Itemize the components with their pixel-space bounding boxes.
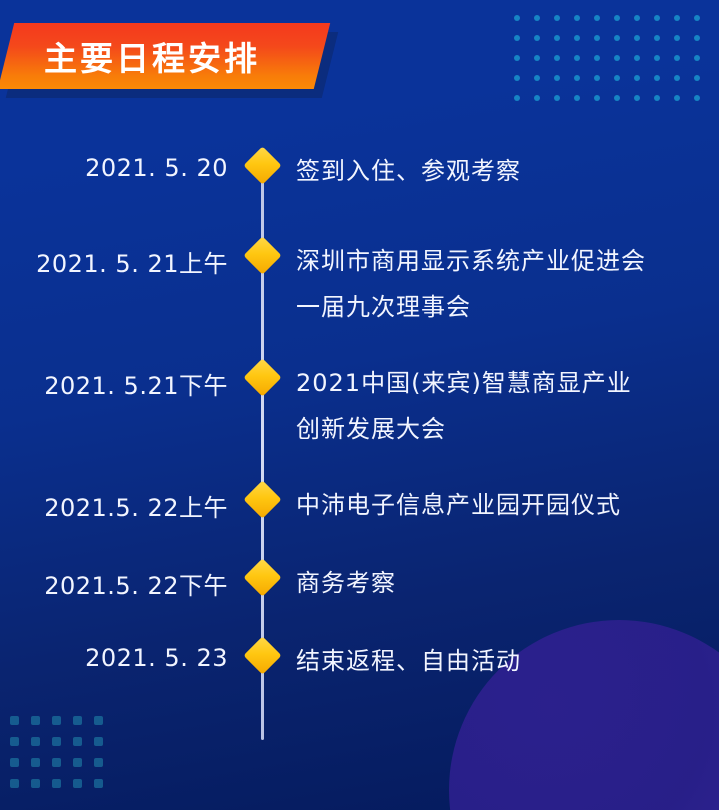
decorative-dot: [574, 75, 580, 81]
decorative-dot: [94, 716, 103, 725]
timeline-row[interactable]: 2021. 5.21下午2021中国(来宾)智慧商显产业创新发展大会: [0, 360, 719, 452]
timeline-row-date: 2021. 5.21下午: [0, 360, 228, 401]
timeline-row-event: 结束返程、自由活动: [296, 638, 719, 684]
timeline-row[interactable]: 2021.5. 22上午中沛电子信息产业园开园仪式: [0, 482, 719, 538]
timeline-row[interactable]: 2021.5. 22下午商务考察: [0, 560, 719, 616]
decorative-dot: [514, 15, 520, 21]
decorative-dot: [654, 35, 660, 41]
decorative-dot: [694, 55, 700, 61]
diamond-icon: [243, 558, 281, 596]
decorative-dot: [31, 716, 40, 725]
decorative-dot: [534, 55, 540, 61]
decorative-dot-grid-top-right: [507, 8, 707, 108]
decorative-dot: [574, 15, 580, 21]
decorative-dot: [73, 716, 82, 725]
decorative-dot: [554, 75, 560, 81]
decorative-dot: [514, 35, 520, 41]
decorative-dot: [534, 15, 540, 21]
timeline-marker-container: [228, 560, 296, 591]
timeline-row-date: 2021.5. 22下午: [0, 560, 228, 601]
decorative-dot: [574, 95, 580, 101]
decorative-dot: [574, 35, 580, 41]
decorative-dot: [614, 35, 620, 41]
decorative-dot: [554, 15, 560, 21]
timeline-row-event: 2021中国(来宾)智慧商显产业创新发展大会: [296, 360, 719, 452]
timeline-row-event-line1: 商务考察: [296, 569, 396, 597]
decorative-dot: [614, 75, 620, 81]
diamond-icon: [243, 358, 281, 396]
decorative-dot: [554, 35, 560, 41]
decorative-dot: [73, 779, 82, 788]
decorative-dot: [94, 737, 103, 746]
title-banner: 主要日程安排: [0, 23, 330, 97]
decorative-dot: [694, 75, 700, 81]
decorative-dot: [514, 95, 520, 101]
decorative-dot: [614, 55, 620, 61]
timeline-row[interactable]: 2021. 5. 20签到入住、参观考察: [0, 148, 719, 204]
decorative-dot: [10, 758, 19, 767]
decorative-dot: [10, 779, 19, 788]
timeline-row-date: 2021. 5. 21上午: [0, 238, 228, 279]
decorative-dot: [654, 55, 660, 61]
decorative-dot: [52, 716, 61, 725]
diamond-icon: [243, 480, 281, 518]
timeline-row-date: 2021.5. 22上午: [0, 482, 228, 523]
diamond-icon: [243, 636, 281, 674]
decorative-dot: [574, 55, 580, 61]
timeline-list: 2021. 5. 20签到入住、参观考察2021. 5. 21上午深圳市商用显示…: [0, 148, 719, 694]
decorative-dot: [73, 758, 82, 767]
timeline-row-event-line1: 结束返程、自由活动: [296, 647, 521, 675]
decorative-dot: [52, 758, 61, 767]
decorative-dot: [31, 779, 40, 788]
diamond-icon: [243, 146, 281, 184]
timeline-row-event: 中沛电子信息产业园开园仪式: [296, 482, 719, 528]
decorative-dot: [514, 75, 520, 81]
decorative-dot: [654, 15, 660, 21]
decorative-dot: [594, 35, 600, 41]
decorative-dot: [674, 75, 680, 81]
timeline-marker-container: [228, 638, 296, 669]
decorative-dot: [634, 35, 640, 41]
page-title: 主要日程安排: [0, 23, 330, 89]
decorative-dot: [614, 95, 620, 101]
decorative-dot: [674, 95, 680, 101]
decorative-dot: [31, 737, 40, 746]
decorative-dot: [94, 758, 103, 767]
timeline-marker-container: [228, 482, 296, 513]
decorative-dot: [594, 55, 600, 61]
timeline-row-event-line1: 签到入住、参观考察: [296, 157, 521, 185]
timeline-marker-container: [228, 148, 296, 179]
decorative-dot: [694, 95, 700, 101]
decorative-dot: [534, 95, 540, 101]
decorative-dot: [614, 15, 620, 21]
timeline-row-event-line2: 创新发展大会: [296, 406, 719, 452]
decorative-dot: [634, 95, 640, 101]
decorative-dot: [94, 779, 103, 788]
decorative-dot-grid-bottom-left: [4, 710, 109, 794]
timeline-row-event: 深圳市商用显示系统产业促进会一届九次理事会: [296, 238, 719, 330]
timeline-row-event-line2: 一届九次理事会: [296, 284, 719, 330]
decorative-dot: [674, 35, 680, 41]
decorative-dot: [554, 55, 560, 61]
decorative-dot: [31, 758, 40, 767]
diamond-icon: [243, 236, 281, 274]
timeline-row-event: 签到入住、参观考察: [296, 148, 719, 194]
timeline-row-date: 2021. 5. 20: [0, 148, 228, 182]
decorative-dot: [634, 15, 640, 21]
timeline-row-event: 商务考察: [296, 560, 719, 606]
decorative-dot: [554, 95, 560, 101]
decorative-dot: [674, 15, 680, 21]
timeline-row-event-line1: 中沛电子信息产业园开园仪式: [296, 491, 621, 519]
decorative-dot: [654, 75, 660, 81]
decorative-dot: [634, 55, 640, 61]
timeline-marker-container: [228, 360, 296, 391]
decorative-dot: [594, 15, 600, 21]
decorative-dot: [594, 95, 600, 101]
decorative-dot: [694, 35, 700, 41]
decorative-dot: [10, 716, 19, 725]
decorative-dot: [634, 75, 640, 81]
decorative-dot: [694, 15, 700, 21]
decorative-dot: [52, 779, 61, 788]
timeline-row[interactable]: 2021. 5. 23结束返程、自由活动: [0, 638, 719, 694]
decorative-dot: [594, 75, 600, 81]
decorative-dot: [534, 35, 540, 41]
timeline-row-event-line1: 深圳市商用显示系统产业促进会: [296, 247, 646, 275]
timeline-row-date: 2021. 5. 23: [0, 638, 228, 672]
decorative-dot: [654, 95, 660, 101]
decorative-dot: [73, 737, 82, 746]
decorative-dot: [52, 737, 61, 746]
timeline-row[interactable]: 2021. 5. 21上午深圳市商用显示系统产业促进会一届九次理事会: [0, 238, 719, 330]
decorative-dot: [514, 55, 520, 61]
decorative-dot: [534, 75, 540, 81]
schedule-poster: 主要日程安排 2021. 5. 20签到入住、参观考察2021. 5. 21上午…: [0, 0, 719, 810]
timeline-marker-container: [228, 238, 296, 269]
decorative-dot: [674, 55, 680, 61]
timeline-row-event-line1: 2021中国(来宾)智慧商显产业: [296, 369, 632, 397]
decorative-dot: [10, 737, 19, 746]
